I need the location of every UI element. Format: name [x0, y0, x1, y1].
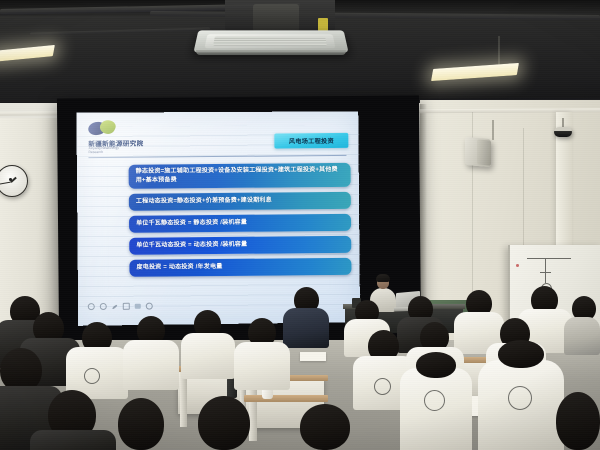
- ceiling-light-rod: [498, 36, 500, 66]
- wall-speaker-face: [477, 139, 491, 165]
- slide-row-per-kwh: 度电投资 = 动态投资 /年发电量: [129, 258, 351, 277]
- desk-surface: [244, 395, 328, 402]
- audience-body: [30, 430, 116, 450]
- slide-row-unit-kw-dynamic: 单位千瓦动态投资 = 动态投资 /装机容量: [129, 236, 351, 255]
- slide-row-static-investment: 静态投资=施工辅助工程投资+设备及安装工程投资+建筑工程投资+其他费用+基本预备…: [129, 163, 351, 189]
- expand-icon[interactable]: [123, 303, 130, 310]
- fill-icon[interactable]: [135, 304, 141, 309]
- audience-body: [283, 308, 329, 348]
- clock-center: [9, 178, 12, 181]
- shirt-logo-icon: [84, 368, 100, 384]
- slide-header-rule: [88, 155, 346, 158]
- logo-mark-icon: [88, 120, 114, 138]
- audience-head: [556, 392, 600, 450]
- logo-english-line2: Research: [88, 150, 119, 155]
- pen-icon[interactable]: [100, 303, 107, 310]
- whiteboard-marker-dot: [516, 264, 519, 267]
- slide-formula-rows: 静态投资=施工辅助工程投资+设备及安装工程投资+建筑工程投资+其他费用+基本预备…: [129, 163, 352, 282]
- presentation-slide: 新疆新能源研究院 Xinjiang NewEnergy Research 风电场…: [82, 113, 356, 320]
- logo-english-name: Xinjiang NewEnergy Research: [88, 146, 119, 155]
- desk-leg: [249, 381, 257, 441]
- wall-speaker-mount: [492, 120, 494, 140]
- slide-row-text: 工程动态投资=静态投资+价差预备费+建设期利息: [136, 197, 272, 207]
- clock-minute-hand: [0, 181, 11, 184]
- handout-paper: [300, 352, 326, 361]
- more-icon[interactable]: [146, 303, 153, 310]
- whiteboard-drawing-line: [527, 258, 571, 259]
- shirt-logo-icon: [374, 378, 391, 395]
- dome-camera-icon: [554, 127, 572, 137]
- slide-title-text: 风电场工程投资: [289, 136, 334, 145]
- ceiling-duct-box: [253, 4, 299, 32]
- shirt-logo-icon: [508, 386, 532, 410]
- slide-row-dynamic-investment: 工程动态投资=静态投资+价差预备费+建设期利息: [129, 192, 351, 211]
- audience-head: [198, 396, 250, 450]
- audience-head: [300, 404, 350, 450]
- audience-head: [416, 352, 456, 378]
- audience-body: [181, 333, 235, 379]
- audience-head: [118, 398, 164, 450]
- audience-body: [564, 317, 600, 355]
- presentation-toolbar[interactable]: [88, 300, 180, 312]
- slide-row-text: 静态投资=施工辅助工程投资+设备及安装工程投资+建筑工程投资+其他费用+基本预备…: [136, 166, 344, 185]
- pointer-icon[interactable]: [88, 303, 95, 310]
- ceiling-yellow-tag: [318, 18, 328, 31]
- slide-row-unit-kw-static: 单位千瓦静态投资 = 静态投资 /装机容量: [129, 214, 351, 233]
- shirt-logo-icon: [424, 390, 445, 411]
- classroom-photo-scene: 新疆新能源研究院 Xinjiang NewEnergy Research 风电场…: [0, 0, 600, 450]
- slide-row-text: 度电投资 = 动态投资 /年发电量: [136, 263, 222, 272]
- presenter-hair: [376, 274, 390, 282]
- slide-row-text: 单位千瓦静态投资 = 静态投资 /装机容量: [136, 219, 247, 229]
- slide-row-text: 单位千瓦动态投资 = 动态投资 /装机容量: [136, 241, 247, 251]
- slide-title-badge: 风电场工程投资: [274, 133, 348, 149]
- air-conditioner-lip: [196, 50, 346, 55]
- audience-body: [123, 340, 179, 390]
- air-conditioner-grill: [213, 36, 327, 45]
- whiteboard-drawing-line: [545, 273, 546, 283]
- highlighter-icon[interactable]: [112, 304, 118, 309]
- audience-head: [498, 340, 544, 368]
- institute-logo: 新疆新能源研究院 Xinjiang NewEnergy Research: [88, 119, 198, 152]
- desk-leg: [180, 372, 187, 427]
- whiteboard-drawing-line: [545, 259, 546, 272]
- audience-body: [234, 342, 290, 390]
